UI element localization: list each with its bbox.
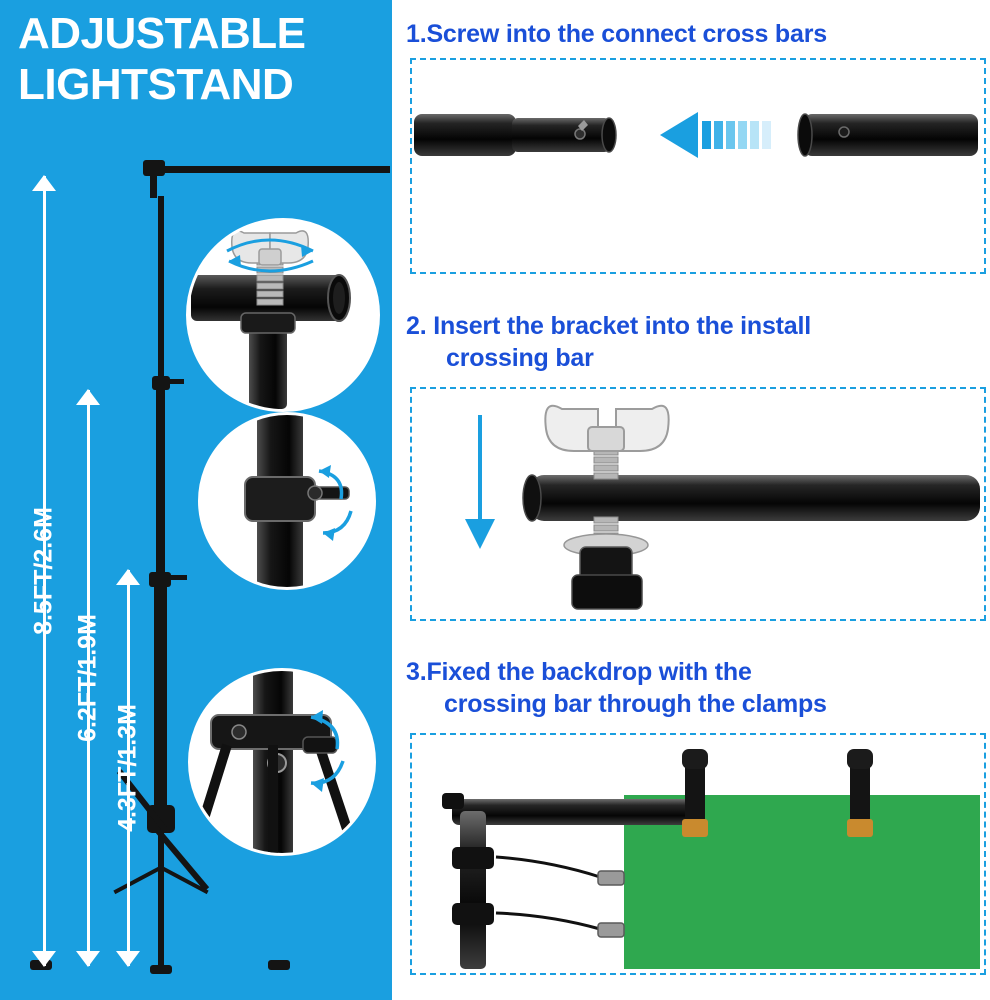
backdrop-clamp-right bbox=[847, 749, 873, 837]
step-1-text: Screw into the connect cross bars bbox=[426, 20, 826, 48]
infographic-page: ADJUSTABLE LIGHTSTAND bbox=[0, 0, 990, 1000]
step-2-illustration-box bbox=[410, 387, 986, 621]
step-1-illustration-box bbox=[410, 58, 986, 274]
left-blue-panel: ADJUSTABLE LIGHTSTAND bbox=[0, 0, 392, 1000]
measure-height-max: 8.5FT/2.6M bbox=[24, 176, 64, 966]
step-2-text-line2: crossing bar bbox=[446, 342, 986, 374]
measure-height-mid: 6.2FT/1.9M bbox=[68, 390, 108, 966]
step-1-drawing bbox=[412, 60, 980, 268]
blue-direction-arrow-icon bbox=[660, 112, 771, 158]
blue-down-arrow-icon bbox=[465, 415, 495, 549]
step-2-number: 2. bbox=[406, 312, 426, 340]
tripod-leg-lock-drawing bbox=[191, 671, 373, 853]
callout-wingnut-joint bbox=[186, 218, 380, 412]
tripod-foot-right bbox=[268, 960, 290, 970]
step-3-drawing bbox=[412, 735, 980, 969]
tripod-foot-center bbox=[150, 965, 172, 974]
wingnut-joint-drawing bbox=[189, 221, 377, 409]
pole-lower-section bbox=[154, 585, 167, 815]
arrow-head-up-icon bbox=[32, 175, 56, 191]
product-title: ADJUSTABLE LIGHTSTAND bbox=[18, 8, 388, 110]
measure-height-min: 4.3FT/1.3M bbox=[108, 570, 148, 966]
step-1-title: 1.Screw into the connect cross bars bbox=[406, 18, 986, 50]
step-3-illustration-box bbox=[410, 733, 986, 975]
step-2-text-line1: Insert the bracket into the install bbox=[433, 312, 811, 340]
crossbar-top-connector bbox=[143, 160, 165, 176]
product-title-line2: LIGHTSTAND bbox=[18, 59, 388, 110]
pole-lock-lever-upper bbox=[170, 379, 184, 384]
height-lock-drawing bbox=[201, 415, 373, 587]
step-3-text-line1: Fixed the backdrop with the bbox=[426, 658, 751, 686]
right-steps-panel: 1.Screw into the connect cross bars bbox=[392, 0, 990, 1000]
arrow-head-down-icon bbox=[32, 951, 56, 967]
arrow-head-up-icon bbox=[76, 389, 100, 405]
step-2-title: 2. Insert the bracket into the install c… bbox=[406, 310, 986, 374]
arrow-head-down-icon bbox=[76, 951, 100, 967]
step-2-drawing bbox=[412, 389, 980, 615]
measure-label-min: 4.3FT/1.3M bbox=[114, 704, 143, 832]
crossbar-top bbox=[150, 166, 390, 173]
backdrop-clamp-left bbox=[682, 749, 708, 837]
step-3-title: 3.Fixed the backdrop with the crossing b… bbox=[406, 656, 988, 720]
step-3-number: 3. bbox=[406, 658, 426, 686]
callout-tripod-legs bbox=[188, 668, 376, 856]
step-1-number: 1. bbox=[406, 20, 426, 48]
pole-lock-lever-lower bbox=[171, 575, 187, 580]
product-title-line1: ADJUSTABLE bbox=[18, 8, 388, 59]
pole-upper-section bbox=[158, 196, 164, 386]
arrow-head-up-icon bbox=[116, 569, 140, 585]
step-3-text-line2: crossing bar through the clamps bbox=[444, 688, 988, 720]
measure-label-max: 8.5FT/2.6M bbox=[30, 507, 59, 635]
tripod-leg-center bbox=[158, 830, 164, 970]
pole-middle-section bbox=[156, 388, 165, 578]
measure-label-mid: 6.2FT/1.9M bbox=[74, 614, 103, 742]
arrow-head-down-icon bbox=[116, 951, 140, 967]
callout-height-lock bbox=[198, 412, 376, 590]
